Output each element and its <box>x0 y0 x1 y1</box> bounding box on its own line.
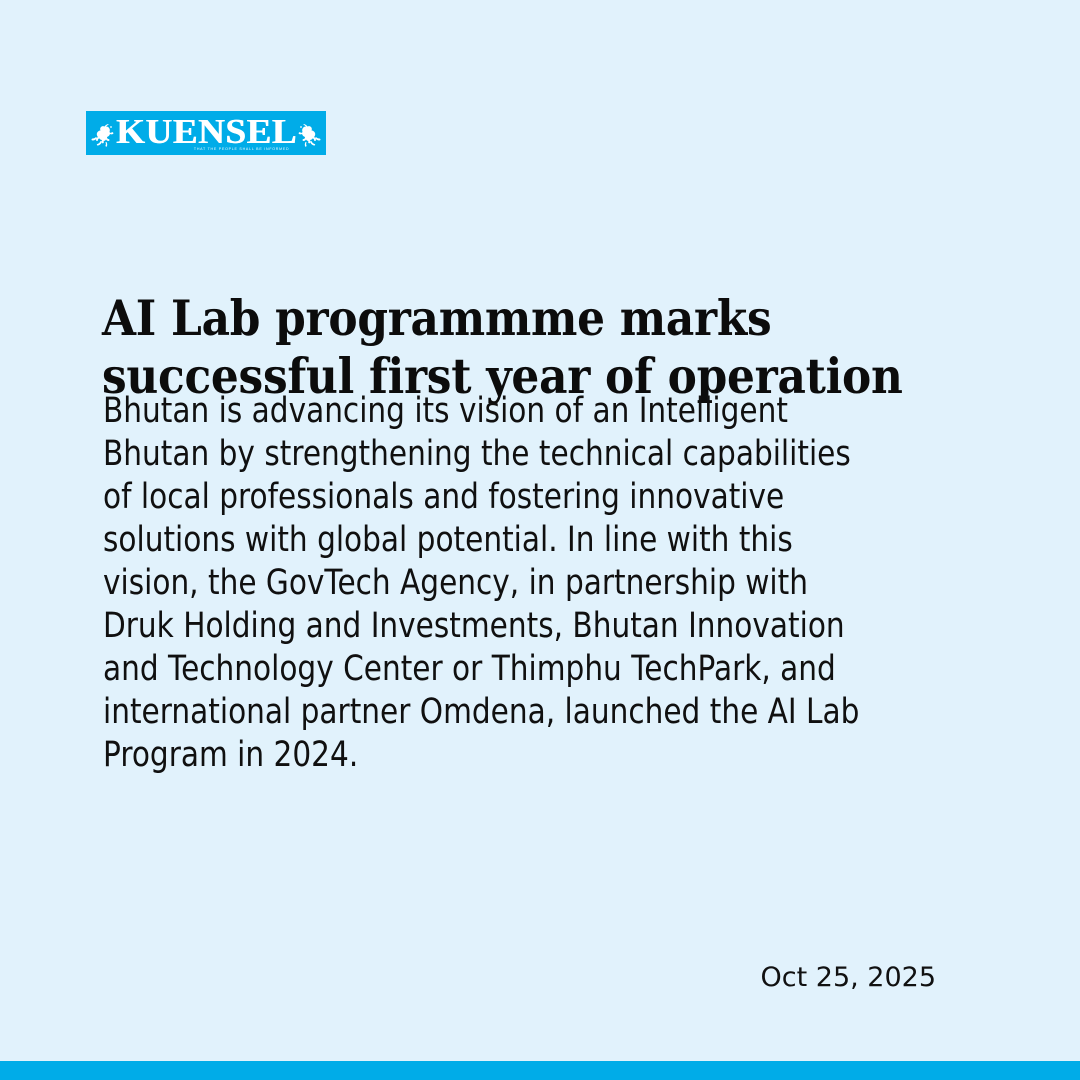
logo-wordmark: KUENSEL <box>115 115 296 148</box>
logo-text-block: KUENSEL THAT THE PEOPLE SHALL BE INFORME… <box>121 115 292 152</box>
article-body: Bhutan is advancing its vision of an Int… <box>103 390 847 777</box>
logo-tagline: THAT THE PEOPLE SHALL BE INFORMED <box>194 147 292 152</box>
body-line: Bhutan by strengthening the technical ca… <box>103 433 847 476</box>
publication-date: Oct 25, 2025 <box>761 962 937 994</box>
body-line: vision, the GovTech Agency, in partnersh… <box>103 562 847 605</box>
body-line: Druk Holding and Investments, Bhutan Inn… <box>103 605 847 648</box>
logo-inner: KUENSEL THAT THE PEOPLE SHALL BE INFORME… <box>86 111 326 155</box>
dragon-emblem-right-icon <box>293 119 323 147</box>
bottom-accent-bar <box>0 1061 1080 1080</box>
body-line: international partner Omdena, launched t… <box>103 691 847 734</box>
kuensel-logo[interactable]: KUENSEL THAT THE PEOPLE SHALL BE INFORME… <box>86 111 326 155</box>
body-line: Program in 2024. <box>103 734 847 777</box>
dragon-emblem-left-icon <box>89 119 119 147</box>
body-line: Bhutan is advancing its vision of an Int… <box>103 390 847 433</box>
news-card: KUENSEL THAT THE PEOPLE SHALL BE INFORME… <box>0 0 1080 1080</box>
article-headline: AI Lab programmme marks successful first… <box>102 289 863 405</box>
body-line: solutions with global potential. In line… <box>103 519 847 562</box>
body-line: and Technology Center or Thimphu TechPar… <box>103 648 847 691</box>
body-line: of local professionals and fostering inn… <box>103 476 847 519</box>
headline-line: AI Lab programmme marks <box>102 289 863 347</box>
